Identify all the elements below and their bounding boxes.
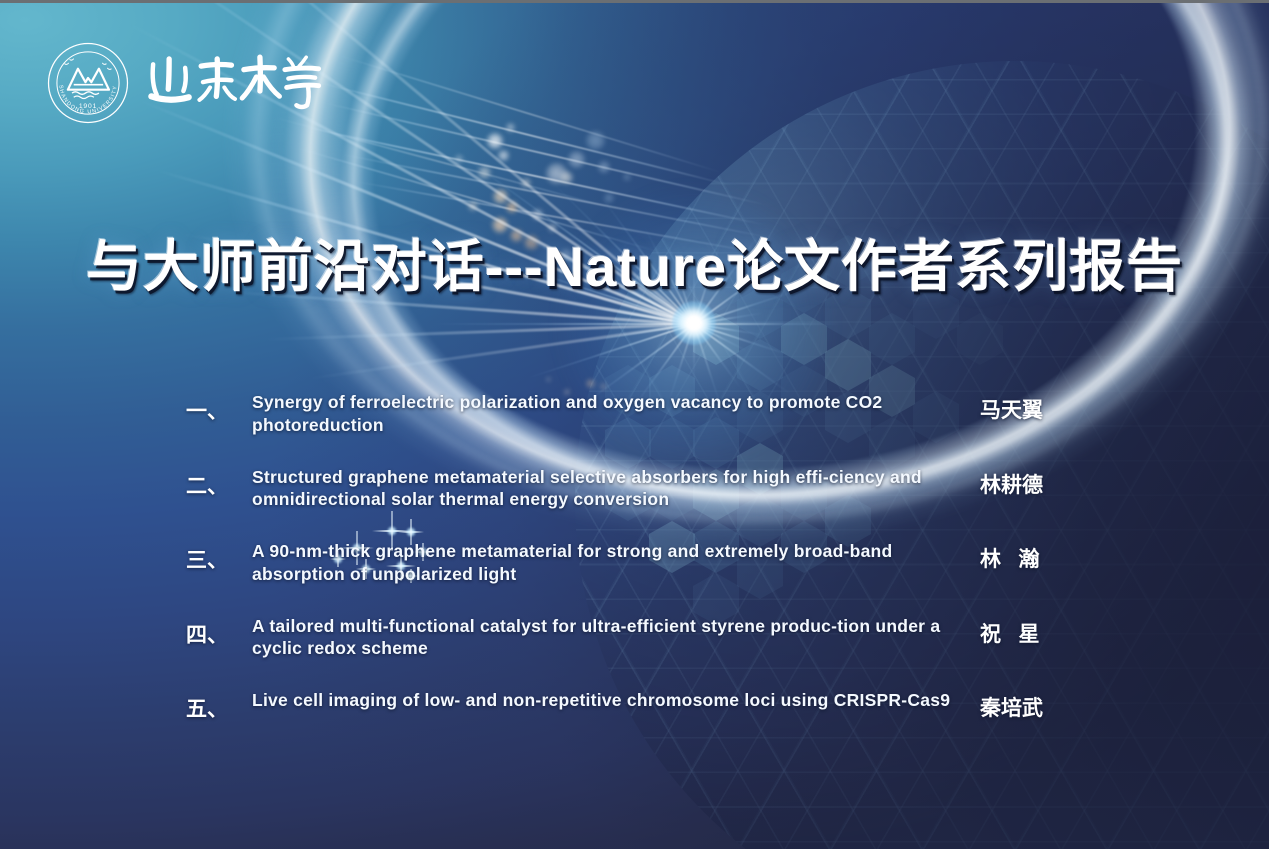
page-title: 与大师前沿对话---Nature论文作者系列报告 xyxy=(0,237,1269,297)
program-row-speaker: 秦培武 xyxy=(980,689,1096,722)
program-row-speaker: 祝 星 xyxy=(980,615,1096,648)
university-wordmark-icon xyxy=(146,46,324,120)
program-row-title: A 90-nm-thick graphene metamaterial for … xyxy=(252,540,980,586)
university-logo: 1901 SHANDONG UNIVERSITY xyxy=(46,41,324,125)
program-row-number: 五、 xyxy=(186,689,252,724)
bokeh-dot xyxy=(623,173,631,181)
bokeh-dot xyxy=(487,133,503,149)
starburst-core xyxy=(672,301,716,345)
program-row-speaker: 林耕德 xyxy=(980,466,1096,499)
program-row-title: Live cell imaging of low- and non-repeti… xyxy=(252,689,980,712)
program-row: 五、Live cell imaging of low- and non-repe… xyxy=(186,689,1096,724)
bokeh-dot xyxy=(598,161,610,173)
program-row: 四、A tailored multi-functional catalyst f… xyxy=(186,615,1096,661)
program-list: 一、Synergy of ferroelectric polarization … xyxy=(186,391,1096,724)
program-row: 二、Structured graphene metamaterial selec… xyxy=(186,466,1096,512)
program-row-speaker: 林 瀚 xyxy=(980,540,1096,573)
program-row-number: 二、 xyxy=(186,466,252,501)
bokeh-dot xyxy=(506,123,515,132)
program-row-title: A tailored multi-functional catalyst for… xyxy=(252,615,980,661)
bokeh-dot xyxy=(586,131,605,150)
program-row-number: 一、 xyxy=(186,391,252,426)
program-row-number: 三、 xyxy=(186,540,252,575)
poster-canvas: 1901 SHANDONG UNIVERSITY xyxy=(0,0,1269,849)
university-seal-icon: 1901 SHANDONG UNIVERSITY xyxy=(46,41,130,125)
program-row: 一、Synergy of ferroelectric polarization … xyxy=(186,391,1096,437)
bokeh-dot xyxy=(568,151,585,168)
program-row: 三、A 90-nm-thick graphene metamaterial fo… xyxy=(186,540,1096,586)
starburst-ray xyxy=(694,323,844,325)
bokeh-dot xyxy=(546,377,551,382)
program-row-title: Synergy of ferroelectric polarization an… xyxy=(252,391,980,437)
program-row-title: Structured graphene metamaterial selecti… xyxy=(252,466,980,512)
bokeh-dot xyxy=(560,171,573,184)
program-row-number: 四、 xyxy=(186,615,252,650)
program-row-speaker: 马天翼 xyxy=(980,391,1096,424)
